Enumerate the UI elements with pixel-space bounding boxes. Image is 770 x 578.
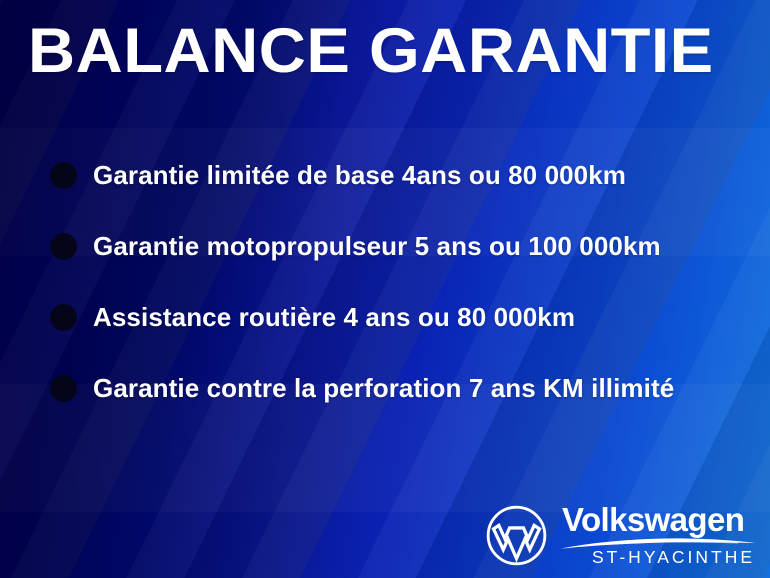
warranty-list: Garantie limitée de base 4ans ou 80 000k…	[50, 140, 762, 424]
list-item: Assistance routière 4 ans ou 80 000km	[50, 282, 762, 353]
bullet-dot-icon	[50, 375, 77, 402]
brand-name: Volkswagen	[562, 503, 756, 536]
list-item: Garantie contre la perforation 7 ans KM …	[50, 353, 762, 424]
banner-content: BALANCE GARANTIE Garantie limitée de bas…	[0, 0, 770, 578]
bullet-dot-icon	[50, 162, 77, 189]
list-item: Garantie limitée de base 4ans ou 80 000k…	[50, 140, 762, 211]
volkswagen-roundel-icon	[485, 504, 548, 567]
list-item-label: Assistance routière 4 ans ou 80 000km	[93, 302, 575, 333]
bullet-dot-icon	[50, 233, 77, 260]
warranty-banner: BALANCE GARANTIE Garantie limitée de bas…	[0, 0, 770, 578]
bullet-dot-icon	[50, 304, 77, 331]
dealer-logo: Volkswagen ST-HYACINTHE	[485, 503, 756, 569]
list-item-label: Garantie limitée de base 4ans ou 80 000k…	[93, 160, 626, 191]
logo-wordmark: Volkswagen ST-HYACINTHE	[562, 503, 756, 569]
list-item-label: Garantie contre la perforation 7 ans KM …	[93, 373, 674, 404]
page-title: BALANCE GARANTIE	[28, 18, 770, 84]
dealer-name: ST-HYACINTHE	[562, 549, 756, 567]
list-item: Garantie motopropulseur 5 ans ou 100 000…	[50, 211, 762, 282]
list-item-label: Garantie motopropulseur 5 ans ou 100 000…	[93, 231, 661, 262]
